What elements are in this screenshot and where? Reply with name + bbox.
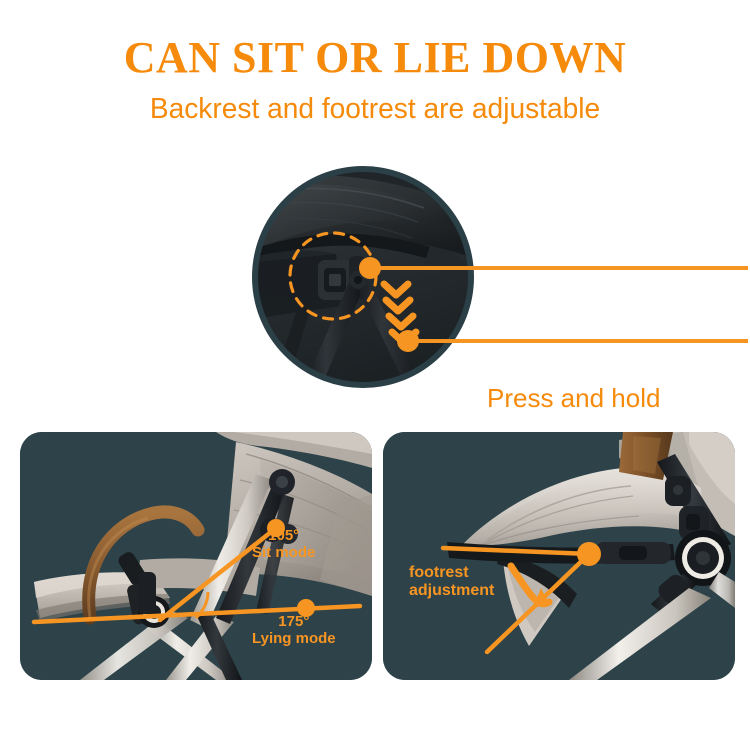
page-title: CAN SIT OR LIE DOWN bbox=[0, 36, 750, 80]
panel-recline-angles: 105° Sit mode 175° Lying mode bbox=[20, 432, 372, 680]
label-sit-mode: 105° Sit mode bbox=[252, 528, 315, 562]
footrest-line2: adjustment bbox=[409, 582, 494, 599]
callout-dot-icon bbox=[577, 542, 601, 566]
hero-illustration bbox=[0, 150, 750, 415]
infographic-canvas: CAN SIT OR LIE DOWN Backrest and footres… bbox=[0, 0, 750, 750]
page-subtitle: Backrest and footrest are adjustable bbox=[11, 94, 739, 126]
hero-detail-section: Press and hold swipe down The strap buck… bbox=[0, 150, 750, 415]
lying-mode-text: Lying mode bbox=[252, 630, 336, 647]
sit-angle-value: 105° bbox=[268, 527, 299, 544]
footrest-line1: footrest bbox=[409, 564, 469, 581]
footrest-illustration bbox=[383, 432, 735, 680]
lying-angle-value: 175° bbox=[278, 613, 309, 630]
hero-product-photo bbox=[250, 164, 480, 394]
sit-mode-text: Sit mode bbox=[252, 544, 315, 561]
panel-footrest-adjustment: footrest adjustment bbox=[383, 432, 735, 680]
label-footrest-adjustment: footrest adjustment bbox=[409, 564, 494, 600]
label-lying-mode: 175° Lying mode bbox=[252, 614, 336, 648]
callout-press-and-hold: Press and hold bbox=[487, 383, 660, 414]
